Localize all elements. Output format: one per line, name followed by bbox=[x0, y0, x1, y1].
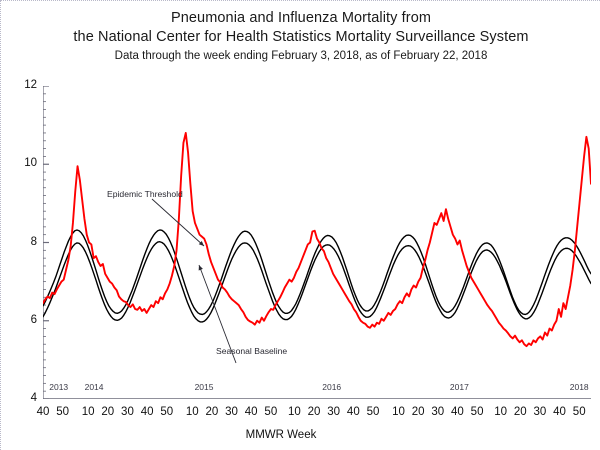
x-axis-title: MMWR Week bbox=[1, 429, 561, 441]
chart-canvas bbox=[43, 86, 591, 399]
year-label: 2016 bbox=[312, 382, 352, 392]
x-tick-label: 50 bbox=[259, 406, 283, 418]
plot-area bbox=[43, 86, 591, 399]
y-tick-label: 6 bbox=[7, 314, 37, 326]
y-tick-label: 4 bbox=[7, 392, 37, 404]
x-tick-label: 50 bbox=[465, 406, 489, 418]
chart-title-block: Pneumonia and Influenza Mortality from t… bbox=[1, 9, 600, 65]
y-tick-label: 12 bbox=[7, 79, 37, 91]
y-axis bbox=[43, 86, 49, 399]
series-observed-line bbox=[43, 133, 591, 346]
y-tick-label: 10 bbox=[7, 157, 37, 169]
series-seasonal-baseline-line bbox=[43, 242, 591, 322]
series-lines bbox=[43, 133, 591, 346]
x-tick-label: 50 bbox=[51, 406, 75, 418]
page-title-line-1: Pneumonia and Influenza Mortality from bbox=[1, 9, 600, 28]
annotation-epidemic-threshold: Epidemic Threshold bbox=[107, 189, 183, 199]
year-label: 2018 bbox=[559, 382, 599, 392]
y-tick-label: 8 bbox=[7, 236, 37, 248]
annotation-seasonal-baseline: Seasonal Baseline bbox=[216, 346, 287, 356]
year-label: 2014 bbox=[74, 382, 114, 392]
page-subtitle: Data through the week ending February 3,… bbox=[1, 48, 600, 65]
seasonal-baseline-leader-arrowhead bbox=[199, 265, 203, 270]
page-title-line-2: the National Center for Health Statistic… bbox=[1, 28, 600, 47]
year-label: 2015 bbox=[184, 382, 224, 392]
year-label: 2013 bbox=[39, 382, 79, 392]
chart-page: Pneumonia and Influenza Mortality from t… bbox=[0, 0, 600, 450]
x-tick-label: 50 bbox=[155, 406, 179, 418]
year-label: 2017 bbox=[439, 382, 479, 392]
x-tick-label: 50 bbox=[361, 406, 385, 418]
x-tick-label: 50 bbox=[567, 406, 591, 418]
